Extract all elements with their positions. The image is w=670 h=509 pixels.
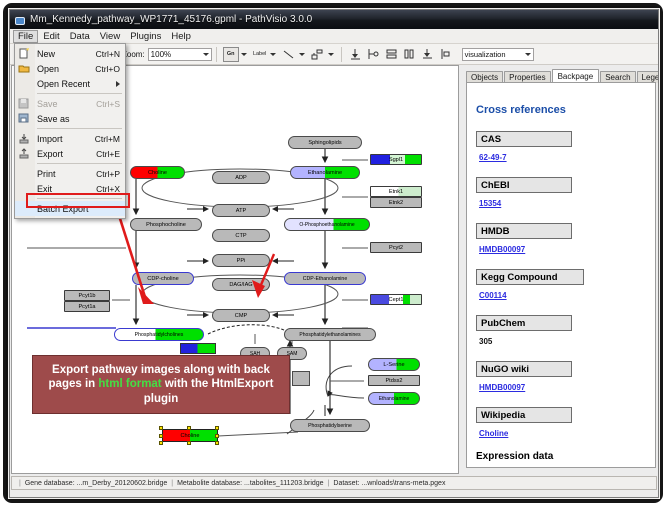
visualization-combo[interactable]: visualization <box>462 48 534 61</box>
file-menu-separator-2 <box>37 128 122 129</box>
window-titlebar: Mm_Kennedy_pathway_WP1771_45176.gpml - P… <box>10 10 659 29</box>
file-menu-separator-1 <box>37 93 122 94</box>
submenu-arrow-icon <box>116 81 120 87</box>
file-menu-open[interactable]: Open Ctrl+O <box>15 61 125 76</box>
status-gene-database: Gene database: ...m_Derby_20120602.bridg… <box>25 480 167 487</box>
callout-text-part2: with the HtmlExport plugin <box>144 378 274 404</box>
node-l-serine[interactable]: L-Serine <box>368 358 420 371</box>
node-dag[interactable]: DAG/IAG <box>212 278 270 291</box>
node-sphingolipids[interactable]: Sphingolipids <box>288 136 362 149</box>
save-disk-icon <box>18 98 30 109</box>
file-menu-save-label: Save <box>37 99 96 109</box>
status-sep-1: | <box>171 480 173 487</box>
import-icon <box>18 133 30 144</box>
node-ppi[interactable]: PPi <box>212 254 270 267</box>
selection-handle-n[interactable] <box>187 426 191 430</box>
xref-header-pubchem: PubChem <box>476 315 572 331</box>
align-center-icon[interactable] <box>420 47 436 62</box>
zoom-value: 100% <box>151 50 171 59</box>
cross-references-title: Cross references <box>476 104 648 116</box>
xref-header-wikipedia: Wikipedia <box>476 407 572 423</box>
xref-value-pubchem: 305 <box>479 337 648 346</box>
stack-rows-icon[interactable] <box>384 47 400 62</box>
datanode-tool-button[interactable]: Gn <box>223 47 239 62</box>
node-ptdss2[interactable]: Ptdss2 <box>368 375 420 386</box>
file-menu-batch-export-label: Batch Export <box>37 204 125 214</box>
callout-text: Export pathway images along with back pa… <box>33 363 289 406</box>
node-etnk2[interactable]: Etnk2 <box>370 197 422 208</box>
file-menu-open-label: Open <box>37 64 95 74</box>
tab-backpage[interactable]: Backpage <box>552 69 600 83</box>
file-menu-import-label: Import <box>37 134 95 144</box>
file-menu-print[interactable]: Print Ctrl+P <box>15 166 125 181</box>
file-menu-save-as-label: Save as <box>37 114 120 124</box>
file-menu-save: Save Ctrl+S <box>15 96 125 111</box>
file-menu-print-accel: Ctrl+P <box>96 169 125 179</box>
selection-handle-w[interactable] <box>159 434 163 438</box>
file-menu-save-accel: Ctrl+S <box>96 99 125 109</box>
zoom-combo[interactable]: 100% <box>148 48 212 61</box>
right-sidebar: Objects Properties Backpage Search Legen… <box>462 65 658 474</box>
xref-header-nugo: NuGO wiki <box>476 361 572 377</box>
node-phosphocholine[interactable]: Phosphocholine <box>130 218 202 231</box>
xref-link-cas[interactable]: 62-49-7 <box>479 153 648 162</box>
menu-data[interactable]: Data <box>65 30 95 43</box>
menu-edit[interactable]: Edit <box>38 30 64 43</box>
screenshot-frame: Mm_Kennedy_pathway_WP1771_45176.gpml - P… <box>0 0 670 509</box>
file-menu-print-label: Print <box>37 169 96 179</box>
file-menu-export-accel: Ctrl+E <box>96 149 125 159</box>
pathvisio-icon <box>14 14 26 26</box>
toolbar-separator <box>216 47 217 62</box>
save-as-icon <box>18 113 30 124</box>
file-menu-save-as[interactable]: Save as <box>15 111 125 126</box>
window-title: Mm_Kennedy_pathway_WP1771_45176.gpml - P… <box>30 14 312 25</box>
xref-header-kegg: Kegg Compound <box>476 269 584 285</box>
stack-columns-icon[interactable] <box>402 47 418 62</box>
node-cept1[interactable]: Cept1 <box>370 294 422 305</box>
xref-link-hmdb[interactable]: HMDB00097 <box>479 245 648 254</box>
status-dataset: Dataset: ...wnloads\trans-meta.pgex <box>333 480 445 487</box>
chevron-down-icon <box>203 53 209 56</box>
node-ethanolamine-top[interactable]: Ethanolamine <box>290 166 360 179</box>
sidebar-tabs: Objects Properties Backpage Search Legen… <box>466 68 656 83</box>
callout-highlight: html format <box>98 378 161 390</box>
file-menu-dropdown[interactable]: New Ctrl+N Open Ctrl+O Open Recent Save … <box>14 43 126 219</box>
file-menu-open-accel: Ctrl+O <box>95 64 125 74</box>
node-pcyt1a[interactable]: Pcyt1a <box>64 301 110 312</box>
node-sgpl1[interactable]: Sgpl1 <box>370 154 422 165</box>
node-phosphatidylethanolamines[interactable]: Phosphatidylethanolamines <box>284 328 376 341</box>
statusbar: | Gene database: ...m_Derby_20120602.bri… <box>11 476 657 490</box>
selection-handle-nw[interactable] <box>159 426 163 430</box>
backpage-content: Cross references CAS 62-49-7 ChEBI 15354… <box>476 83 648 467</box>
file-menu-exit-label: Exit <box>37 184 96 194</box>
expression-data-heading: Expression data <box>476 451 648 462</box>
backpage-panel[interactable]: Cross references CAS 62-49-7 ChEBI 15354… <box>466 82 656 468</box>
selection-handle-e[interactable] <box>215 434 219 438</box>
file-menu-new[interactable]: New Ctrl+N <box>15 46 125 61</box>
label-tool-button[interactable]: Label <box>252 47 268 62</box>
xref-link-nugo[interactable]: HMDB00097 <box>479 383 648 392</box>
file-menu-exit-accel: Ctrl+X <box>96 184 125 194</box>
node-cdp-choline[interactable]: CDP-choline <box>132 272 194 285</box>
node-etnk1[interactable]: Etnk1 <box>370 186 422 197</box>
node-atp[interactable]: ATP <box>212 204 270 217</box>
node-pcyt2[interactable]: Pcyt2 <box>370 242 422 253</box>
shape-dropdown-icon[interactable] <box>328 53 334 56</box>
file-menu-separator-4 <box>37 198 122 199</box>
file-menu-open-recent[interactable]: Open Recent <box>15 76 125 91</box>
xref-link-chebi[interactable]: 15354 <box>479 199 648 208</box>
file-menu-export-label: Export <box>37 149 96 159</box>
file-menu-new-accel: Ctrl+N <box>96 49 125 59</box>
open-folder-icon <box>18 63 30 74</box>
xref-header-cas: CAS <box>476 131 572 147</box>
toolbar-separator-2 <box>341 47 342 62</box>
selection-handle-s[interactable] <box>187 441 191 445</box>
xref-header-chebi: ChEBI <box>476 177 572 193</box>
node-o-phosphoethanolamine[interactable]: O-Phosphoethanolamine <box>284 218 370 231</box>
file-menu-import[interactable]: Import Ctrl+M <box>15 131 125 146</box>
file-menu-exit[interactable]: Exit Ctrl+X <box>15 181 125 196</box>
chevron-down-icon-2 <box>525 53 531 56</box>
menubar: File Edit Data View Plugins Help <box>10 29 659 44</box>
node-ethanolamine-bottom[interactable]: Ethanolamine <box>368 392 420 405</box>
selection-handle-ne[interactable] <box>215 426 219 430</box>
node-choline[interactable]: Choline <box>130 166 185 179</box>
selection-handle-sw[interactable] <box>159 441 163 445</box>
shape-tool-button[interactable] <box>310 47 326 62</box>
file-menu-import-accel: Ctrl+M <box>95 134 125 144</box>
file-menu-new-label: New <box>37 49 96 59</box>
file-menu-separator-3 <box>37 163 122 164</box>
node-ctp[interactable]: CTP <box>212 229 270 242</box>
menu-plugins[interactable]: Plugins <box>125 30 166 43</box>
file-menu-export[interactable]: Export Ctrl+E <box>15 146 125 161</box>
xref-link-wikipedia[interactable]: Choline <box>479 429 648 438</box>
menu-help[interactable]: Help <box>166 30 196 43</box>
node-cmp[interactable]: CMP <box>212 309 270 322</box>
annotation-callout: Export pathway images along with back pa… <box>32 355 290 414</box>
node-adp[interactable]: ADP <box>212 171 270 184</box>
status-metabolite-database: Metabolite database: ...tabolites_111203… <box>177 480 323 487</box>
line-tool-button[interactable] <box>281 47 297 62</box>
node-phosphatidylcholines[interactable]: Phosphatidylcholines <box>114 328 204 341</box>
xref-header-hmdb: HMDB <box>476 223 572 239</box>
new-file-icon <box>18 48 30 59</box>
pathvisio-window: Mm_Kennedy_pathway_WP1771_45176.gpml - P… <box>9 9 659 498</box>
expression-swatch <box>180 343 216 354</box>
group-icon[interactable] <box>438 47 454 62</box>
align-top-icon[interactable] <box>348 47 364 62</box>
datanode-dropdown-icon[interactable] <box>241 53 247 56</box>
label-dropdown-icon[interactable] <box>270 53 276 56</box>
menu-view[interactable]: View <box>95 30 125 43</box>
file-menu-open-recent-label: Open Recent <box>37 79 116 89</box>
menu-file[interactable]: File <box>13 30 38 43</box>
align-left-icon[interactable] <box>366 47 382 62</box>
status-sep-0: | <box>19 480 21 487</box>
anchor-box[interactable] <box>292 371 310 386</box>
status-sep-2: | <box>328 480 330 487</box>
visualization-value: visualization <box>465 50 506 59</box>
node-phosphatidylserine[interactable]: Phosphatidylserine <box>290 419 370 432</box>
selection-handle-se[interactable] <box>215 441 219 445</box>
node-pcyt1b[interactable]: Pcyt1b <box>64 290 110 301</box>
export-icon <box>18 148 30 159</box>
file-menu-batch-export[interactable]: Batch Export <box>15 201 125 216</box>
line-dropdown-icon[interactable] <box>299 53 305 56</box>
xref-link-kegg[interactable]: C00114 <box>479 291 648 300</box>
node-cdp-ethanolamine[interactable]: CDP-Ethanolamine <box>284 272 366 285</box>
